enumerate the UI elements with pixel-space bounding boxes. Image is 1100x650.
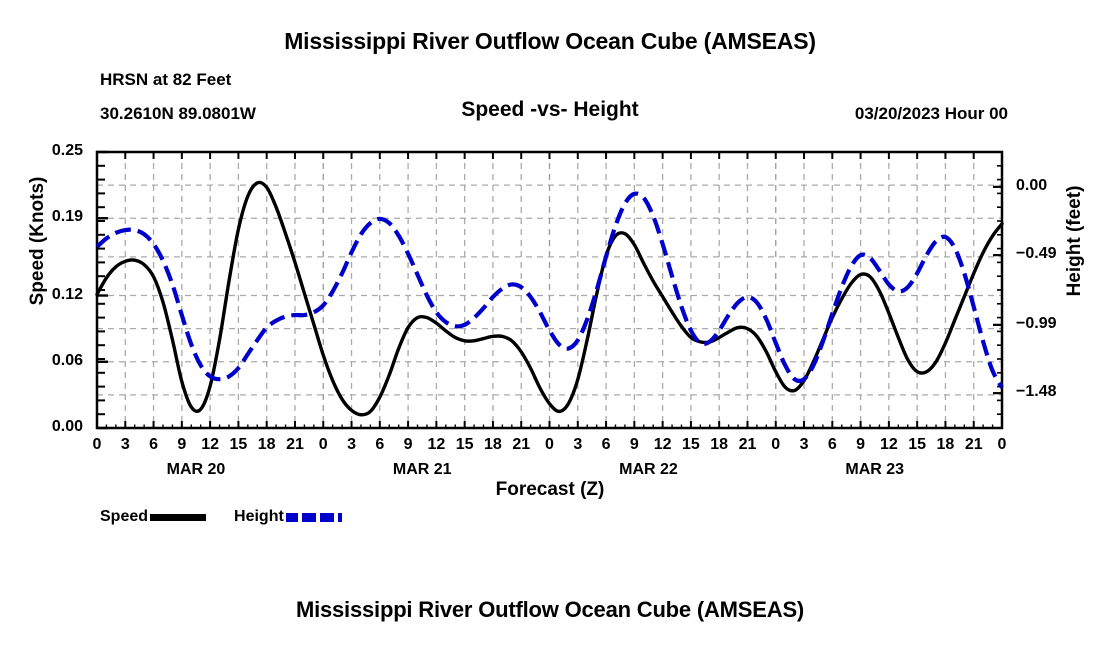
xtick-label: 3 (110, 436, 140, 454)
x-axis-day-label: MAR 20 (136, 461, 256, 479)
legend-item-height: Height (234, 508, 342, 526)
ytick-label-right: −0.99 (1016, 315, 1086, 333)
xtick-label: 3 (563, 436, 593, 454)
ytick-label-left: 0.25 (23, 142, 83, 160)
legend-item-speed: Speed (100, 508, 234, 526)
xtick-label: 12 (648, 436, 678, 454)
xtick-label: 18 (252, 436, 282, 454)
ytick-label-left: 0.06 (23, 352, 83, 370)
xtick-label: 21 (959, 436, 989, 454)
x-axis-day-label: MAR 23 (815, 461, 935, 479)
legend-label-speed: Speed (100, 508, 148, 526)
xtick-label: 6 (365, 436, 395, 454)
ytick-label-right: −1.48 (1016, 383, 1086, 401)
legend-swatch-speed-line-icon (150, 514, 206, 521)
xtick-label: 15 (450, 436, 480, 454)
xtick-label: 0 (308, 436, 338, 454)
xtick-label: 18 (478, 436, 508, 454)
legend: Speed Height (100, 508, 342, 526)
x-axis-day-label: MAR 22 (588, 461, 708, 479)
xtick-label: 0 (987, 436, 1017, 454)
footer-title: Mississippi River Outflow Ocean Cube (AM… (0, 597, 1100, 623)
gridlines (97, 152, 1002, 428)
ytick-label-left: 0.19 (23, 208, 83, 226)
xtick-label: 18 (704, 436, 734, 454)
chart-page: Mississippi River Outflow Ocean Cube (AM… (0, 0, 1100, 650)
ytick-label-left: 0.12 (23, 286, 83, 304)
plot-area: Speed (Knots) Height (feet) Forecast (Z)… (0, 0, 1100, 650)
xtick-label: 0 (82, 436, 112, 454)
xtick-label: 21 (280, 436, 310, 454)
xtick-label: 15 (676, 436, 706, 454)
xtick-label: 0 (761, 436, 791, 454)
legend-swatch-height-dash-icon (286, 513, 342, 522)
ytick-label-right: 0.00 (1016, 177, 1086, 195)
xtick-label: 9 (393, 436, 423, 454)
legend-label-height: Height (234, 508, 284, 526)
ytick-label-right: −0.49 (1016, 245, 1086, 263)
xtick-label: 3 (337, 436, 367, 454)
xtick-label: 15 (902, 436, 932, 454)
xtick-label: 9 (167, 436, 197, 454)
xtick-label: 9 (619, 436, 649, 454)
xtick-label: 15 (223, 436, 253, 454)
x-axis-day-label: MAR 21 (362, 461, 482, 479)
xtick-label: 12 (195, 436, 225, 454)
xtick-label: 6 (139, 436, 169, 454)
chart-svg (0, 0, 1100, 650)
xtick-label: 21 (732, 436, 762, 454)
xtick-label: 9 (846, 436, 876, 454)
xtick-label: 18 (930, 436, 960, 454)
xtick-label: 21 (506, 436, 536, 454)
xtick-label: 6 (591, 436, 621, 454)
xtick-label: 12 (421, 436, 451, 454)
xtick-label: 6 (817, 436, 847, 454)
xtick-label: 3 (789, 436, 819, 454)
x-axis-title: Forecast (Z) (0, 479, 1100, 501)
xtick-label: 12 (874, 436, 904, 454)
ytick-label-left: 0.00 (23, 418, 83, 436)
xtick-label: 0 (535, 436, 565, 454)
